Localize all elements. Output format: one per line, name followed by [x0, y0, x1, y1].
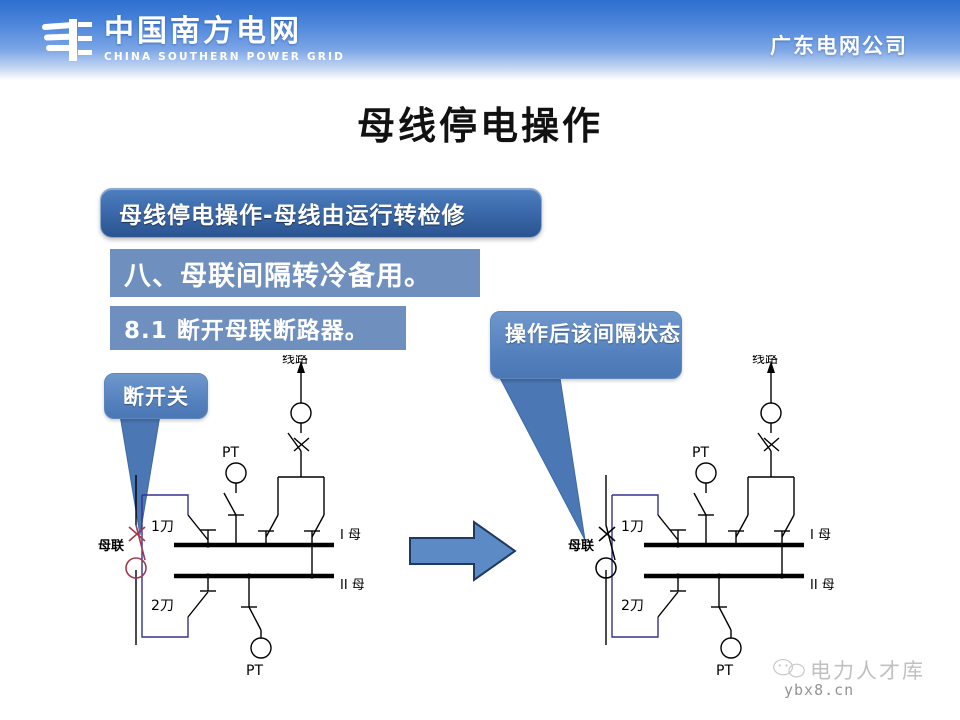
label-bus-coupler: 母联 — [568, 539, 594, 554]
callout-post-state-label: 操作后该间隔状态 — [505, 322, 681, 346]
label-bus-1: I 母 — [810, 528, 831, 543]
single-line-diagram-before: 线路 PT PT 1刀 2刀 母联 I 母 II 母 — [96, 355, 366, 700]
section-pill: 母线停电操作-母线由运行转检修 — [100, 188, 542, 238]
brand-logo: 中国南方电网 CHINA SOUTHERN POWER GRID — [42, 16, 345, 64]
watermark: 电力人才库 ybx8.cn — [768, 655, 948, 713]
label-pt-bottom: PT — [716, 663, 733, 679]
slide-header: 中国南方电网 CHINA SOUTHERN POWER GRID 广东电网公司 — [0, 0, 960, 80]
section-pill-label: 母线停电操作-母线由运行转检修 — [101, 196, 466, 230]
wechat-face-icon — [772, 657, 806, 679]
label-pt-top: PT — [222, 445, 239, 461]
label-bus-2: II 母 — [810, 578, 835, 593]
brand-name-cn: 中国南方电网 — [104, 16, 345, 48]
label-knife-2: 2刀 — [621, 598, 644, 614]
step-substep-bar: 8.1 断开母联断路器。 — [110, 306, 406, 350]
transition-arrow — [408, 520, 518, 582]
label-knife-1: 1刀 — [151, 519, 174, 535]
label-line: 线路 — [282, 355, 308, 367]
single-line-diagram-after: 线路 PT PT 1刀 2刀 母联 I 母 II 母 — [566, 355, 836, 700]
junction-dots — [675, 542, 784, 578]
junction-dots — [205, 542, 314, 578]
label-knife-1: 1刀 — [621, 519, 644, 535]
label-pt-bottom: PT — [246, 663, 263, 679]
step-heading-bar: 八、母联间隔转冷备用。 — [110, 249, 480, 297]
label-line: 线路 — [752, 355, 778, 367]
label-bus-2: II 母 — [340, 578, 365, 593]
company-name: 广东电网公司 — [770, 30, 908, 60]
slide-canvas: 中国南方电网 CHINA SOUTHERN POWER GRID 广东电网公司 … — [0, 0, 960, 720]
step-heading-label: 八、母联间隔转冷备用。 — [110, 254, 432, 293]
label-bus-1: I 母 — [340, 528, 361, 543]
label-knife-2: 2刀 — [151, 598, 174, 614]
watermark-site: ybx8.cn — [784, 681, 854, 699]
brand-name-en: CHINA SOUTHERN POWER GRID — [104, 50, 345, 64]
southern-power-grid-logo-icon — [42, 17, 90, 63]
label-pt-top: PT — [692, 445, 709, 461]
step-substep-label: 8.1 断开母联断路器。 — [110, 311, 369, 345]
page-title: 母线停电操作 — [0, 95, 960, 150]
label-bus-coupler: 母联 — [98, 539, 124, 554]
